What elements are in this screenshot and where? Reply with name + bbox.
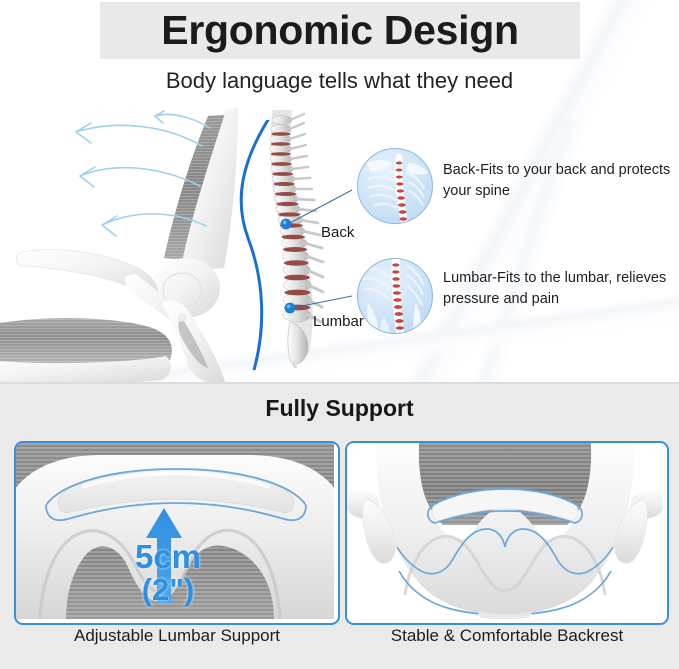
backrest-rear-view-image [347,443,663,619]
lumbar-callout-text: Lumbar-Fits to the lumbar, relieves pres… [443,268,675,309]
measurement-value: 5cm [88,540,248,574]
page-subtitle: Body language tells what they need [0,68,679,94]
spine-upper-back-icon [358,149,432,223]
spine-point-label-back: Back [321,224,354,241]
caption-adjustable-lumbar-support: Adjustable Lumbar Support [14,626,340,646]
spine-lumbar-icon [358,259,432,333]
page-title: Ergonomic Design [161,10,518,51]
infographic-page: Ergonomic Design Body language tells wha… [0,0,679,669]
fully-support-section: Fully Support [0,384,679,669]
caption-stable-backrest: Stable & Comfortable Backrest [345,626,669,646]
measurement-label: 5cm (2") [88,540,248,605]
measurement-alt-value: (2") [88,574,248,606]
panel-stable-backrest [345,441,669,625]
airflow-arrows-icon [60,110,240,245]
lumbar-callout-image [357,258,433,334]
spine-point-label-lumbar: Lumbar [313,313,364,330]
panel-adjustable-lumbar-support: 5cm (2") [14,441,340,625]
back-callout-image [357,148,433,224]
ergonomic-design-section: Ergonomic Design Body language tells wha… [0,0,679,384]
title-banner: Ergonomic Design [100,2,580,59]
fully-support-title: Fully Support [0,395,679,422]
back-callout-text: Back-Fits to your back and protects your… [443,160,673,201]
